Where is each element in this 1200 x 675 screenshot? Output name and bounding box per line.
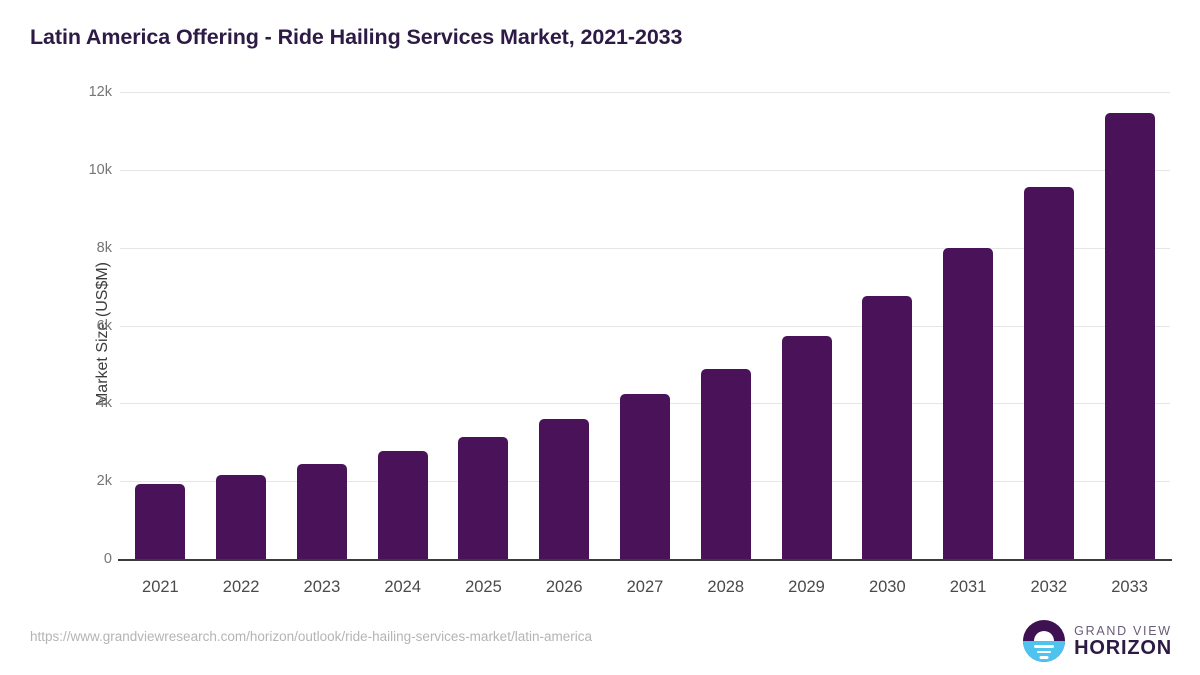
- y-tick-label: 12k: [89, 84, 112, 100]
- y-tick-label: 2k: [97, 473, 112, 489]
- y-tick-label: 6k: [97, 318, 112, 334]
- x-tick-label-2030: 2030: [847, 578, 928, 597]
- x-tick-label-2029: 2029: [766, 578, 847, 597]
- logo-sun-dome: [1034, 631, 1054, 641]
- x-tick-label-2025: 2025: [443, 578, 524, 597]
- logo-text: GRAND VIEW HORIZON: [1074, 624, 1172, 659]
- logo-brand-top: GRAND VIEW: [1074, 624, 1172, 638]
- x-tick-label-2026: 2026: [524, 578, 605, 597]
- grand-view-horizon-logo: GRAND VIEW HORIZON: [1023, 618, 1172, 664]
- logo-brand-bottom: HORIZON: [1074, 638, 1172, 659]
- x-tick-label-2033: 2033: [1089, 578, 1170, 597]
- y-tick-label: 10k: [89, 162, 112, 178]
- x-tick-label-2024: 2024: [362, 578, 443, 597]
- x-axis-ticks: 2021202220232024202520262027202820292030…: [120, 0, 1170, 675]
- x-tick-label-2027: 2027: [605, 578, 686, 597]
- y-tick-label: 0: [104, 551, 112, 567]
- y-tick-label: 4k: [97, 395, 112, 411]
- logo-ray-1: [1034, 645, 1054, 648]
- x-tick-label-2021: 2021: [120, 578, 201, 597]
- source-url[interactable]: https://www.grandviewresearch.com/horizo…: [30, 629, 592, 644]
- chart-page: Latin America Offering - Ride Hailing Se…: [0, 0, 1200, 675]
- y-tick-label: 8k: [97, 240, 112, 256]
- x-tick-label-2023: 2023: [282, 578, 363, 597]
- logo-ray-3: [1040, 656, 1049, 659]
- horizon-sun-icon: [1023, 620, 1065, 662]
- logo-ray-2: [1037, 651, 1051, 654]
- x-tick-label-2028: 2028: [685, 578, 766, 597]
- x-tick-label-2032: 2032: [1008, 578, 1089, 597]
- x-tick-label-2031: 2031: [928, 578, 1009, 597]
- y-axis-ticks: 02k4k6k8k10k12k: [0, 0, 112, 675]
- x-tick-label-2022: 2022: [201, 578, 282, 597]
